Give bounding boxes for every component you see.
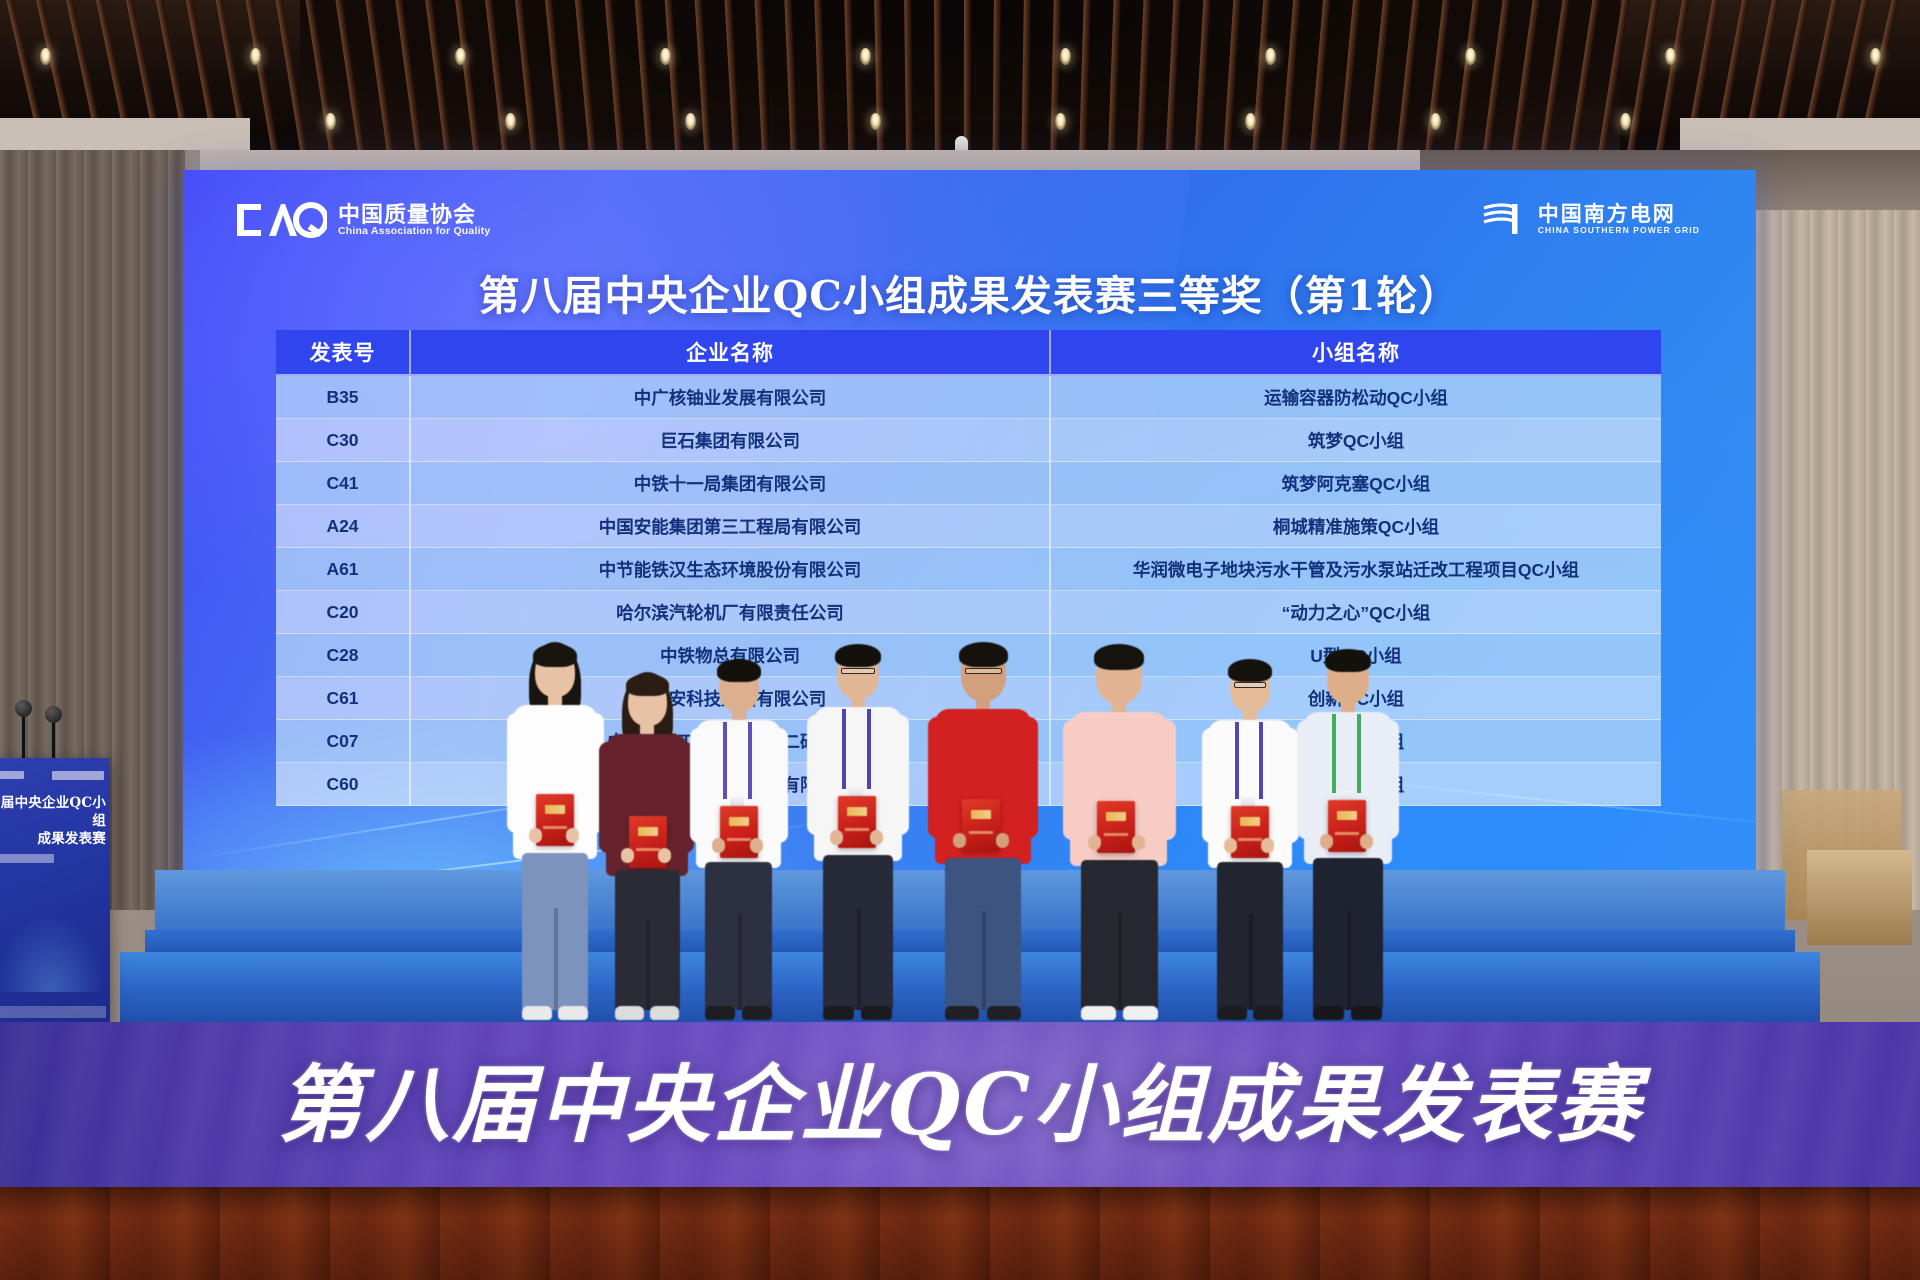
ceiling-light bbox=[1060, 48, 1071, 65]
person bbox=[1055, 640, 1183, 1026]
cell-code: C30 bbox=[276, 419, 411, 462]
person-arm-right bbox=[889, 715, 909, 835]
lanyard-icon bbox=[842, 709, 846, 789]
person-leg-gap bbox=[738, 914, 742, 1010]
ceiling-slat bbox=[934, 0, 942, 152]
table-row: C20哈尔滨汽轮机厂有限责任公司“动力之心”QC小组 bbox=[276, 591, 1661, 634]
podium-logos bbox=[0, 768, 104, 782]
cell-code: A24 bbox=[276, 505, 411, 548]
person-hand-left bbox=[1088, 835, 1101, 850]
person-leg-gap bbox=[982, 911, 986, 1010]
cell-firm: 中铁十一局集团有限公司 bbox=[411, 462, 1051, 505]
lanyard-icon bbox=[1235, 722, 1239, 799]
person-hair-top bbox=[533, 644, 577, 667]
certificate-emblem bbox=[729, 817, 749, 826]
cell-team: 运输容器防松动QC小组 bbox=[1051, 376, 1661, 419]
person-hand-right bbox=[566, 828, 579, 843]
person-shoe-right bbox=[861, 1006, 892, 1020]
ceiling-cable-2 bbox=[962, 90, 964, 138]
person bbox=[1195, 655, 1305, 1026]
certificate-emblem bbox=[545, 805, 565, 814]
cell-team: “动力之心”QC小组 bbox=[1051, 591, 1661, 634]
cell-firm: 中国安能集团第三工程局有限公司 bbox=[411, 505, 1051, 548]
person-shoe-right bbox=[987, 1006, 1021, 1020]
table-row: B35中广核铀业发展有限公司运输容器防松动QC小组 bbox=[276, 376, 1661, 419]
certificate bbox=[1097, 801, 1135, 853]
certificate-emblem bbox=[638, 827, 658, 836]
header-team: 小组名称 bbox=[1051, 330, 1661, 376]
person-arm-left bbox=[1063, 720, 1085, 840]
person-hair-top bbox=[1228, 659, 1272, 682]
person bbox=[800, 640, 916, 1026]
table-row: A24中国安能集团第三工程局有限公司桐城精准施策QC小组 bbox=[276, 505, 1661, 548]
ceiling-light bbox=[455, 48, 466, 65]
person-hair-top bbox=[717, 659, 761, 682]
csg-logo-text: 中国南方电网 CHINA SOUTHERN POWER GRID bbox=[1538, 203, 1700, 235]
cell-code: C61 bbox=[276, 677, 411, 720]
person-shoe-left bbox=[945, 1006, 979, 1020]
person-leg-gap bbox=[646, 919, 650, 1010]
cell-team: 筑梦阿克塞QC小组 bbox=[1051, 462, 1661, 505]
person-leg-gap bbox=[1347, 911, 1351, 1010]
ceiling-light bbox=[1245, 113, 1256, 130]
person-hand-right bbox=[658, 848, 671, 863]
person-shoe-left bbox=[1217, 1006, 1247, 1020]
person bbox=[920, 638, 1046, 1026]
cell-firm: 巨石集团有限公司 bbox=[411, 419, 1051, 462]
csg-logo-en: CHINA SOUTHERN POWER GRID bbox=[1538, 226, 1700, 235]
cell-code: B35 bbox=[276, 376, 411, 419]
table-header-row: 发表号 企业名称 小组名称 bbox=[276, 330, 1661, 376]
lanyard-icon bbox=[1357, 714, 1361, 793]
ceiling-cable-1 bbox=[770, 95, 772, 152]
person-shoe-left bbox=[1081, 1006, 1116, 1020]
screen-title: 第八届中央企业QC小组成果发表赛三等奖（第1轮） bbox=[183, 262, 1756, 322]
csg-mark-icon bbox=[1482, 202, 1526, 236]
certificate-emblem bbox=[1240, 817, 1260, 826]
cell-team: 桐城精准施策QC小组 bbox=[1051, 505, 1661, 548]
ceiling-light bbox=[860, 48, 871, 65]
person-hand-right bbox=[996, 833, 1009, 848]
person-arm-right bbox=[1017, 717, 1038, 838]
certificate-emblem bbox=[971, 810, 991, 819]
header-code: 发表号 bbox=[276, 330, 411, 376]
person-shoe-left bbox=[522, 1006, 552, 1020]
cell-code: C07 bbox=[276, 720, 411, 763]
person-leg-gap bbox=[857, 909, 861, 1010]
podium-date-line bbox=[0, 854, 54, 863]
ceiling-slat bbox=[1625, 0, 1660, 152]
certificate-title-line bbox=[636, 848, 660, 851]
person-hand-right bbox=[1360, 834, 1373, 849]
person-hair-top bbox=[1325, 649, 1371, 672]
person-arm-left bbox=[599, 742, 617, 853]
person-arm-right bbox=[1154, 720, 1176, 840]
podium-csg-logo bbox=[52, 771, 104, 780]
person-hand-right bbox=[1261, 838, 1274, 853]
lanyard-icon bbox=[867, 709, 871, 789]
ceiling-light bbox=[1870, 48, 1881, 65]
certificate-title-line bbox=[969, 831, 993, 834]
person-hand-right bbox=[750, 838, 763, 853]
cell-code: C60 bbox=[276, 763, 411, 806]
bottom-banner: 第八届中央企业QC小组成果发表赛 bbox=[0, 1022, 1920, 1187]
caq-mark-icon bbox=[235, 200, 327, 240]
podium: 届中央企业QC小组成果发表赛 bbox=[0, 758, 110, 1026]
person-arm-left bbox=[807, 715, 827, 835]
cell-code: A61 bbox=[276, 548, 411, 591]
csg-logo-cn: 中国南方电网 bbox=[1538, 203, 1700, 226]
cell-code: C28 bbox=[276, 634, 411, 677]
glasses-icon bbox=[841, 668, 875, 674]
person-hair-top bbox=[959, 642, 1008, 667]
person-hand-left bbox=[621, 848, 634, 863]
person-shoe-left bbox=[615, 1006, 644, 1020]
person-arm-right bbox=[1379, 720, 1399, 839]
caq-logo-cn: 中国质量协会 bbox=[338, 203, 490, 226]
person-hand-right bbox=[1132, 835, 1145, 850]
ceiling-light bbox=[40, 48, 51, 65]
microphone-head-right bbox=[45, 706, 62, 723]
ceiling-light bbox=[1430, 113, 1441, 130]
person-shoe-right bbox=[1253, 1006, 1283, 1020]
table-row: A61中节能铁汉生态环境股份有限公司华润微电子地块污水干管及污水泵站迁改工程项目… bbox=[276, 548, 1661, 591]
caq-logo-en: China Association for Quality bbox=[338, 226, 490, 237]
certificate-title-line bbox=[1238, 838, 1262, 841]
floor-shadow bbox=[0, 1187, 1920, 1217]
podium-footer-text bbox=[0, 1006, 106, 1018]
certificate-title-line bbox=[1104, 833, 1128, 836]
banner-title: 第八届中央企业QC小组成果发表赛 bbox=[0, 1038, 1920, 1159]
person-shoe-right bbox=[1351, 1006, 1382, 1020]
table-row: C30巨石集团有限公司筑梦QC小组 bbox=[276, 419, 1661, 462]
person-leg-gap bbox=[1118, 913, 1122, 1011]
ceiling-light bbox=[1620, 113, 1631, 130]
person-arm-left bbox=[690, 728, 709, 843]
person-hair-top bbox=[1094, 644, 1144, 670]
cell-code: C20 bbox=[276, 591, 411, 634]
cell-team: 华润微电子地块污水干管及污水泵站迁改工程项目QC小组 bbox=[1051, 548, 1661, 591]
person-shoe-right bbox=[558, 1006, 588, 1020]
certificate bbox=[962, 799, 1000, 851]
podium-caq-logo bbox=[0, 771, 24, 779]
person bbox=[683, 655, 795, 1026]
cell-firm: 哈尔滨汽轮机厂有限责任公司 bbox=[411, 591, 1051, 634]
ceiling-slat bbox=[993, 0, 1001, 152]
glasses-icon bbox=[1234, 682, 1266, 688]
podium-city-graphic bbox=[0, 916, 106, 992]
person-hair-top bbox=[626, 674, 669, 696]
ceiling-light bbox=[250, 48, 261, 65]
person-hand-left bbox=[1320, 834, 1333, 849]
person-leg-gap bbox=[1249, 914, 1253, 1010]
person-hand-left bbox=[830, 830, 843, 845]
person-arm-left bbox=[507, 713, 526, 833]
person-shoe-right bbox=[650, 1006, 679, 1020]
person-shoe-left bbox=[705, 1006, 735, 1020]
person bbox=[1290, 645, 1406, 1026]
header-firm: 企业名称 bbox=[411, 330, 1051, 376]
glasses-icon bbox=[965, 668, 1002, 674]
ceiling-light bbox=[660, 48, 671, 65]
ceiling-wall-patch-right bbox=[1680, 118, 1920, 152]
person-leg-gap bbox=[554, 908, 558, 1010]
ceiling-light bbox=[870, 113, 881, 130]
lanyard-icon bbox=[723, 722, 727, 799]
cell-code: C41 bbox=[276, 462, 411, 505]
microphone-head-left bbox=[15, 700, 32, 717]
ceiling-light bbox=[505, 113, 516, 130]
certificate-emblem bbox=[1106, 812, 1126, 821]
ceiling bbox=[0, 0, 1920, 152]
cell-team: 筑梦QC小组 bbox=[1051, 419, 1661, 462]
ceiling-light bbox=[1665, 48, 1676, 65]
ceiling-light bbox=[1265, 48, 1276, 65]
person-shoe-left bbox=[823, 1006, 854, 1020]
person-hand-left bbox=[953, 833, 966, 848]
certificate-title-line bbox=[727, 838, 751, 841]
person-shoe-right bbox=[742, 1006, 772, 1020]
certificate-emblem bbox=[847, 807, 867, 816]
certificate-title-line bbox=[845, 828, 869, 831]
caq-logo-text: 中国质量协会 China Association for Quality bbox=[338, 203, 490, 237]
stage-prop-box-2 bbox=[1807, 850, 1912, 945]
certificate-title-line bbox=[543, 826, 567, 829]
ceiling-slat bbox=[964, 0, 971, 152]
csg-logo: 中国南方电网 CHINA SOUTHERN POWER GRID bbox=[1482, 202, 1700, 236]
cell-firm: 中广核铀业发展有限公司 bbox=[411, 376, 1051, 419]
cell-firm: 中节能铁汉生态环境股份有限公司 bbox=[411, 548, 1051, 591]
person-arm-left bbox=[1297, 720, 1317, 839]
lanyard-icon bbox=[1332, 714, 1336, 793]
ceiling-light bbox=[1055, 113, 1066, 130]
person-arm-left bbox=[928, 717, 949, 838]
person-arm-right bbox=[769, 728, 788, 843]
person-shoe-right bbox=[1123, 1006, 1158, 1020]
person-hand-left bbox=[529, 828, 542, 843]
caq-logo: 中国质量协会 China Association for Quality bbox=[235, 200, 490, 240]
certificate-emblem bbox=[1337, 811, 1357, 820]
certificate-title-line bbox=[1335, 832, 1359, 835]
ceiling-light bbox=[1465, 48, 1476, 65]
lanyard-icon bbox=[748, 722, 752, 799]
person-arm-left bbox=[1202, 728, 1221, 843]
person-hand-left bbox=[1224, 838, 1237, 853]
ceiling-wall-patch-left bbox=[0, 118, 250, 152]
ceiling-light bbox=[685, 113, 696, 130]
ceiling-light bbox=[325, 113, 336, 130]
person-hand-left bbox=[712, 838, 725, 853]
lanyard-icon bbox=[1259, 722, 1263, 799]
person-shoe-left bbox=[1313, 1006, 1344, 1020]
table-row: C41中铁十一局集团有限公司筑梦阿克塞QC小组 bbox=[276, 462, 1661, 505]
podium-title: 届中央企业QC小组成果发表赛 bbox=[0, 794, 106, 849]
person-hand-right bbox=[870, 830, 883, 845]
person-hair-top bbox=[835, 644, 881, 667]
